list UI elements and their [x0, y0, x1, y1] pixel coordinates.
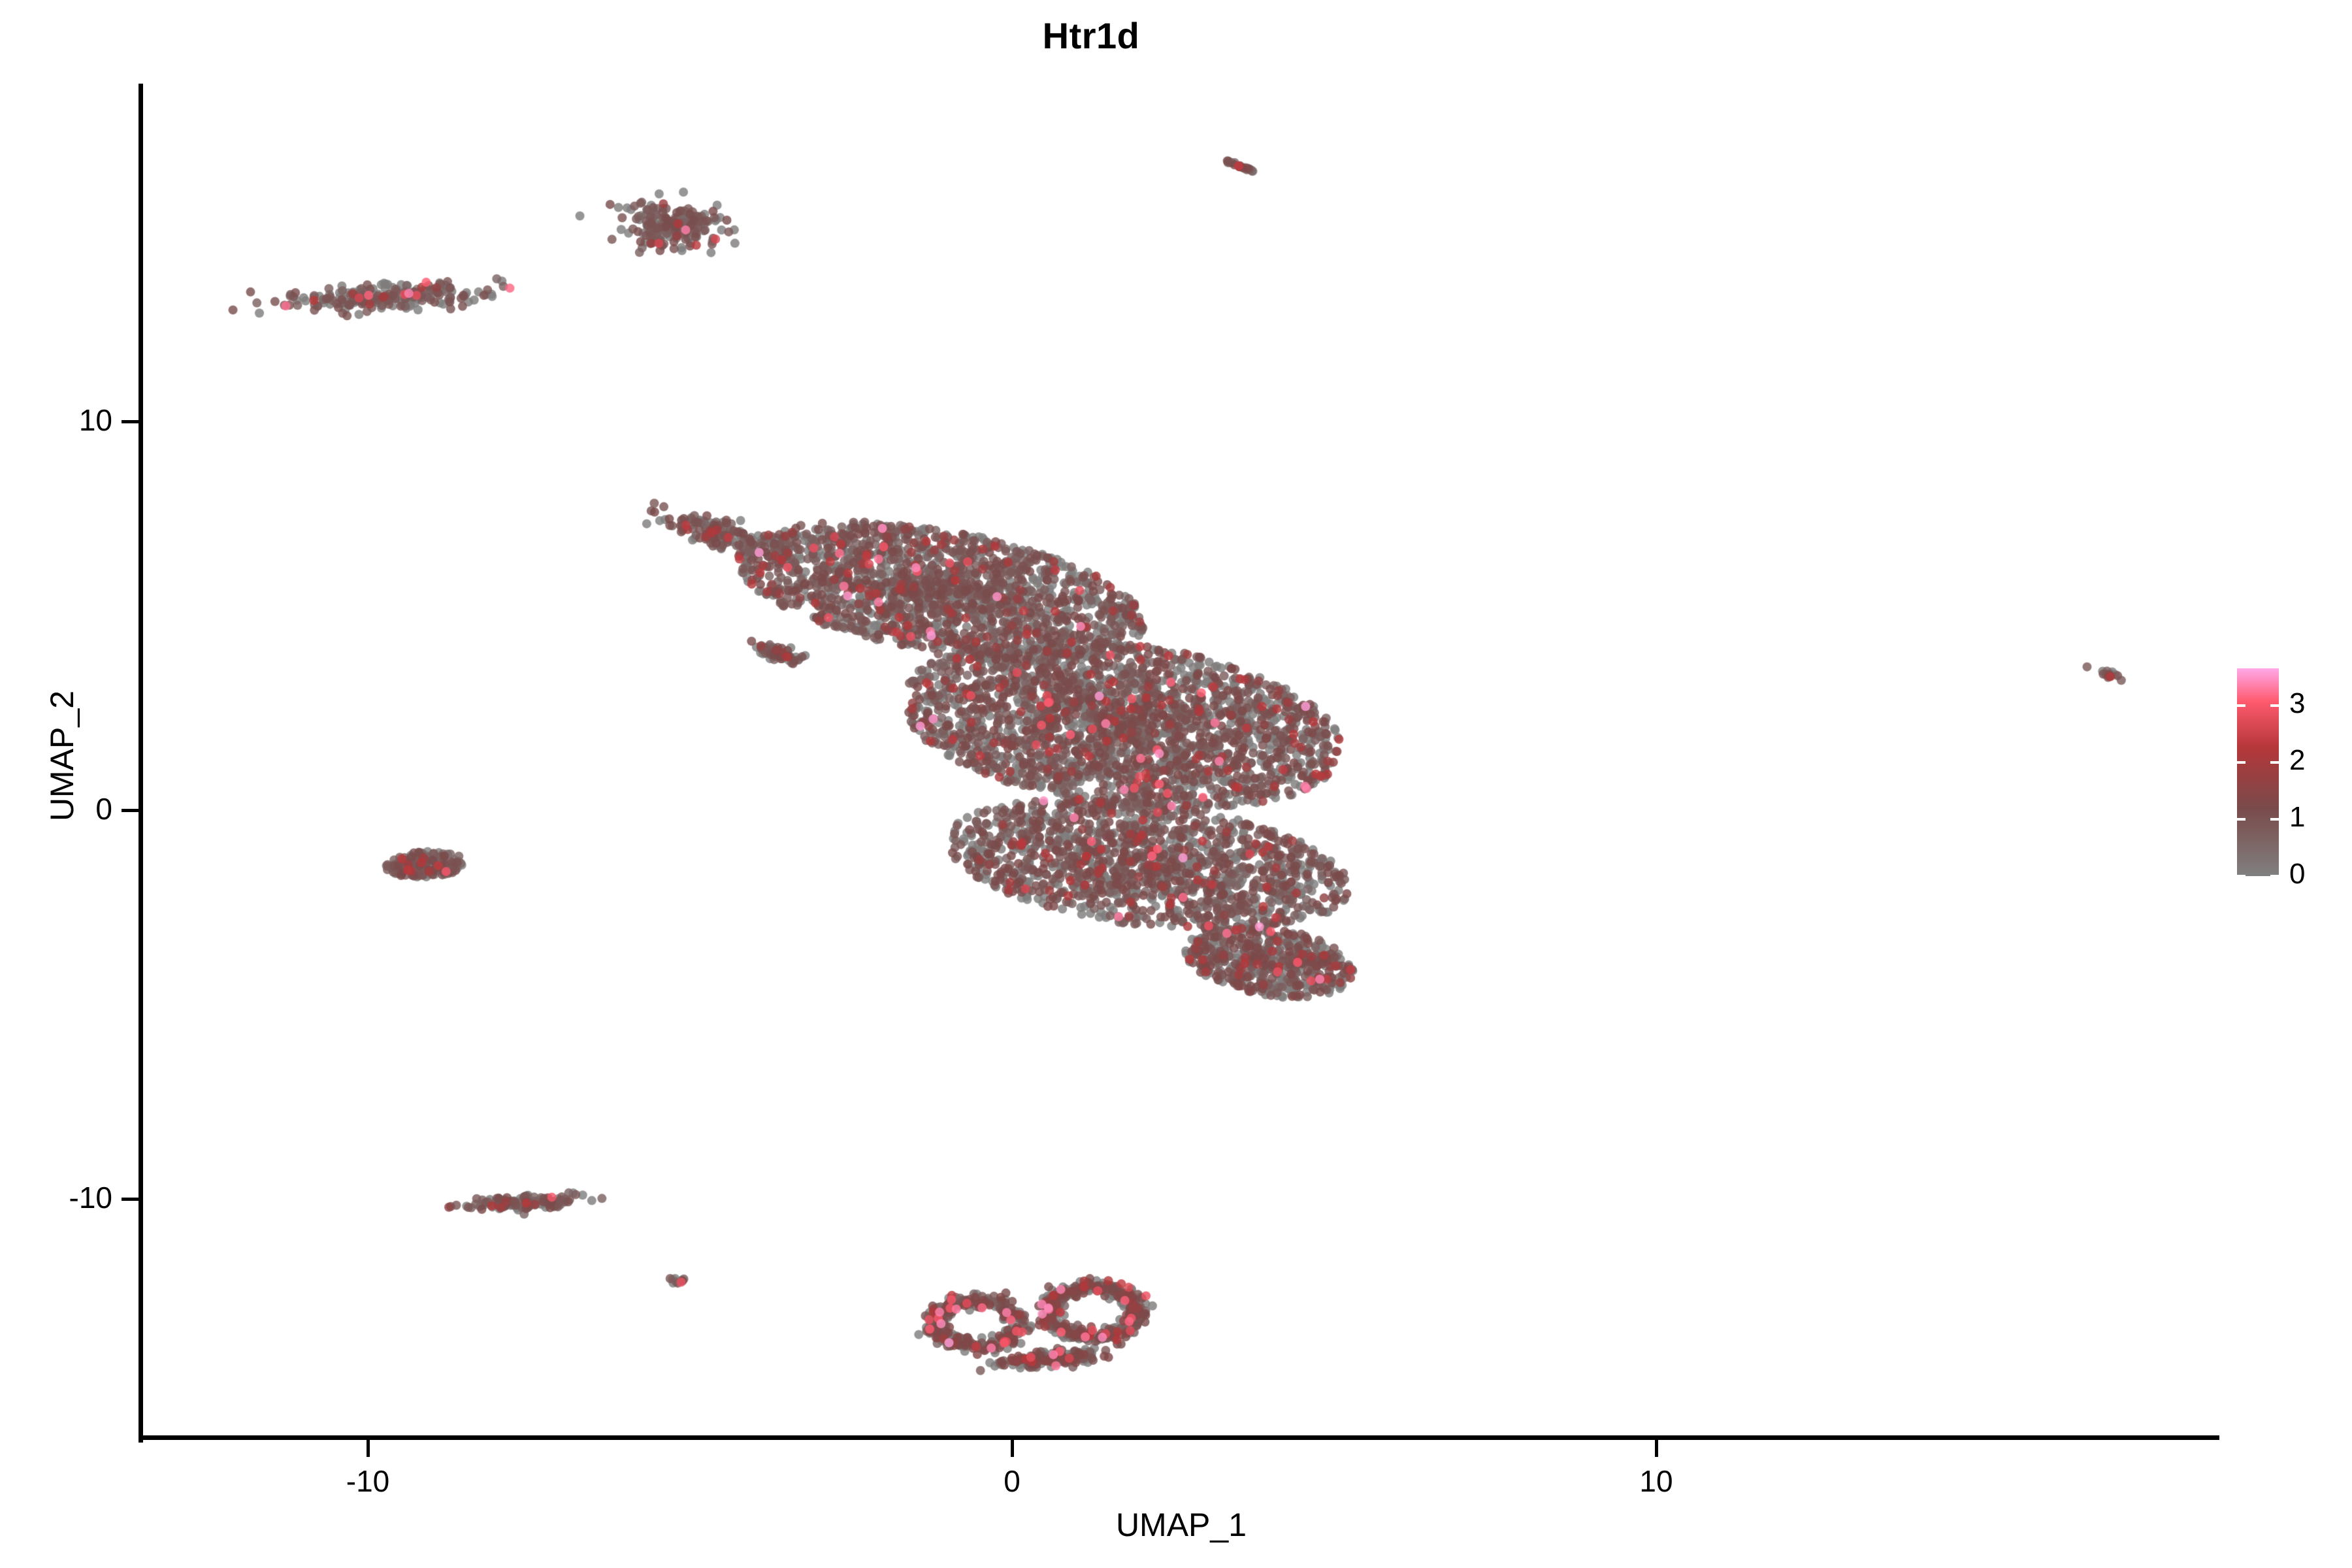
legend-tick-mark [2270, 875, 2279, 877]
x-tick-10 [1655, 1440, 1658, 1457]
y-tick-label: -10 [0, 1180, 112, 1215]
y-axis-label: UMAP_2 [43, 397, 81, 1115]
legend-tick-mark [2237, 761, 2246, 764]
legend-label-1: 1 [2289, 801, 2305, 834]
legend-tick-mark [2237, 818, 2246, 821]
x-tick-label: 10 [1578, 1463, 1735, 1499]
y-tick-0 [122, 809, 139, 812]
legend-label-3: 3 [2289, 687, 2305, 720]
y-axis-line [139, 84, 143, 1443]
y-tick-10 [122, 420, 139, 423]
legend-label-0: 0 [2289, 858, 2305, 890]
y-tick--10 [122, 1198, 139, 1201]
legend-tick-mark [2270, 818, 2279, 821]
x-axis-label: UMAP_1 [142, 1506, 2220, 1544]
figure-root: Htr1d -10010 -10010 UMAP_1 UMAP_2 0123 [0, 0, 2352, 1568]
x-tick--10 [367, 1440, 370, 1457]
page-title: Htr1d [0, 14, 2182, 57]
legend-tick-mark [2270, 761, 2279, 764]
legend-tick-mark [2237, 704, 2246, 707]
color-legend: 0123 [2237, 668, 2342, 890]
x-tick-0 [1011, 1440, 1014, 1457]
x-axis-line [139, 1435, 2219, 1440]
legend-tick-mark [2237, 875, 2246, 877]
legend-tick-mark [2270, 704, 2279, 707]
legend-label-2: 2 [2289, 744, 2305, 777]
legend-colorbar [2237, 668, 2279, 876]
x-tick-label: -10 [289, 1463, 446, 1499]
plot-panel [142, 84, 2220, 1439]
x-tick-label: 0 [934, 1463, 1090, 1499]
